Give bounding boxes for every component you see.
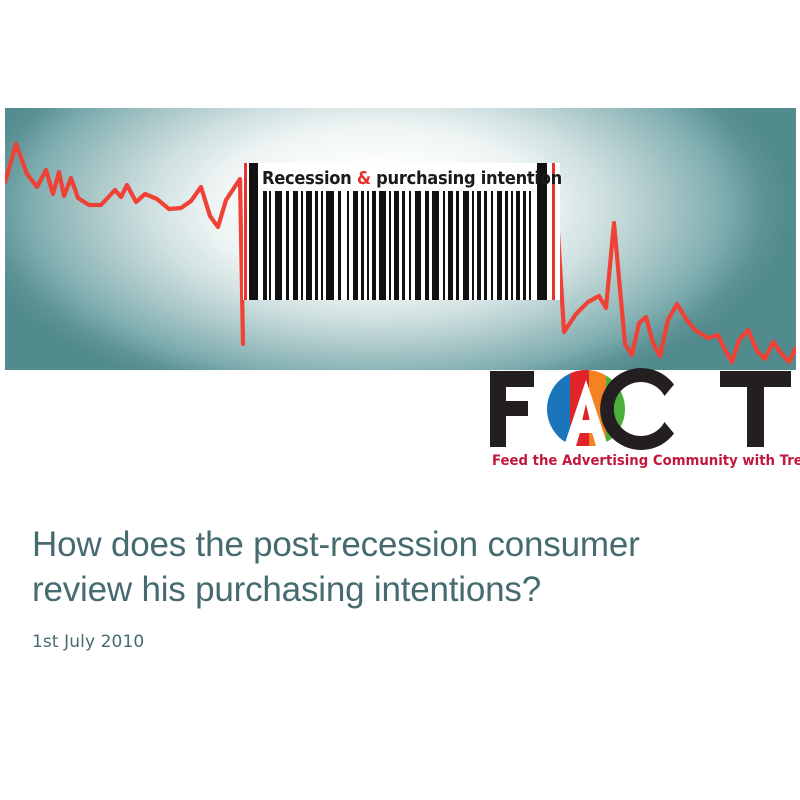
fact-logo: Feed the Advertising Community with Tren… bbox=[488, 368, 793, 476]
letter-t-icon bbox=[720, 371, 791, 447]
trend-line-right bbox=[556, 200, 796, 362]
page-title-line-2: review his purchasing intentions? bbox=[32, 570, 541, 609]
trend-line-left bbox=[5, 144, 243, 344]
page-title-line-1: How does the post-recession consumer bbox=[32, 525, 640, 564]
barcode-label-before: Recession bbox=[262, 169, 357, 189]
letter-f-icon bbox=[490, 371, 534, 447]
barcode-label: Recession & purchasing intention bbox=[262, 167, 524, 191]
title-block: How does the post-recession consumer rev… bbox=[32, 522, 762, 653]
fact-wordmark bbox=[488, 368, 793, 450]
page-title: How does the post-recession consumer rev… bbox=[32, 522, 762, 612]
presentation-slide: Recession & purchasing intention bbox=[0, 0, 800, 800]
fact-tagline: Feed the Advertising Community with Tren… bbox=[492, 452, 773, 471]
barcode-label-after: purchasing intention bbox=[371, 169, 562, 189]
barcode-label-ampersand: & bbox=[357, 169, 371, 189]
fact-wordmark-svg bbox=[488, 368, 793, 450]
presentation-date: 1st July 2010 bbox=[32, 612, 762, 653]
